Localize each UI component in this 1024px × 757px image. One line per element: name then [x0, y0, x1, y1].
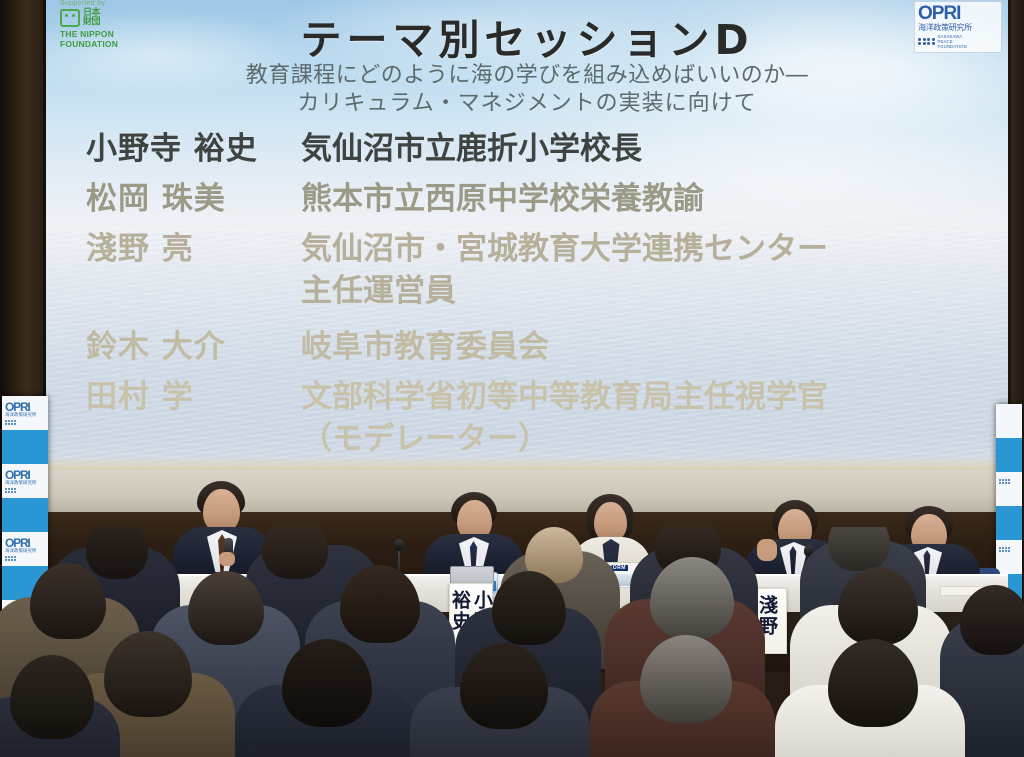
banner-dots-icon: [999, 479, 1019, 484]
banner-dots-icon: [5, 420, 45, 425]
roster-name: 松岡 珠美: [86, 178, 301, 221]
roster-name: 淺野 亮: [86, 228, 301, 271]
banner-cell: OPRI 海洋政策研究所: [2, 464, 48, 498]
roster-name: 鈴木 大介: [86, 326, 301, 369]
roster-row: 田村 学 文部科学省初等中等教育局主任視学官 （モデレーター）: [86, 376, 978, 460]
banner-cell: [2, 430, 48, 464]
banner-opri-logo: [999, 477, 1019, 484]
banner-cell: [996, 404, 1022, 438]
banner-wordmark: OPRI: [5, 469, 45, 481]
roster-name: 田村 学: [86, 376, 301, 419]
wall-under-screen: [46, 470, 1008, 514]
roster-role: 気仙沼市立鹿折小学校長: [301, 128, 978, 171]
banner-cell: [996, 438, 1022, 472]
slide-subtitle: 教育課程にどのように海の学びを組み込めばいいのか― カリキュラム・マネジメントの…: [46, 62, 1008, 118]
banner-cell: [996, 472, 1022, 506]
roster-row: 鈴木 大介 岐阜市教育委員会: [86, 326, 978, 369]
roster-role-continued: （モデレーター）: [301, 419, 549, 460]
banner-cell: OPRI 海洋政策研究所: [2, 396, 48, 430]
projection-screen: Supported by 日本 財団 THE NIPPON FOUNDATION…: [46, 0, 1008, 473]
banner-wordmark: OPRI: [5, 401, 45, 413]
roster-role-continued: 主任運営員: [301, 271, 456, 312]
roster-role: 気仙沼市・宮城教育大学連携センター: [301, 228, 978, 271]
banner-japanese: 海洋政策研究所: [5, 413, 45, 418]
roster-row: 小野寺 裕史 気仙沼市立鹿折小学校長: [86, 128, 978, 171]
roster-role: 熊本市立西原中学校栄養教諭: [301, 178, 978, 221]
banner-opri-logo: OPRI 海洋政策研究所: [5, 469, 45, 493]
screenshot-stage: Supported by 日本 財団 THE NIPPON FOUNDATION…: [0, 0, 1024, 757]
roster-name: 小野寺 裕史: [86, 128, 301, 171]
roster-row: 松岡 珠美 熊本市立西原中学校栄養教諭: [86, 178, 978, 221]
audience: [0, 527, 1024, 757]
roster-role: 文部科学省初等中等教育局主任視学官: [301, 376, 978, 419]
slide-roster: 小野寺 裕史 気仙沼市立鹿折小学校長 松岡 珠美 熊本市立西原中学校栄養教諭 淺…: [86, 128, 978, 467]
slide-title: テーマ別セッションD: [46, 6, 1008, 66]
roster-role: 岐阜市教育委員会: [301, 326, 978, 369]
banner-opri-logo: OPRI 海洋政策研究所: [5, 401, 45, 425]
slide-subtitle-line1: 教育課程にどのように海の学びを組み込めばいいのか―: [46, 62, 1008, 90]
banner-japanese: 海洋政策研究所: [5, 481, 45, 486]
roster-row: 淺野 亮 気仙沼市・宮城教育大学連携センター 主任運営員: [86, 228, 978, 312]
banner-dots-icon: [5, 488, 45, 493]
slide-subtitle-line2: カリキュラム・マネジメントの実装に向けて: [46, 90, 1008, 118]
